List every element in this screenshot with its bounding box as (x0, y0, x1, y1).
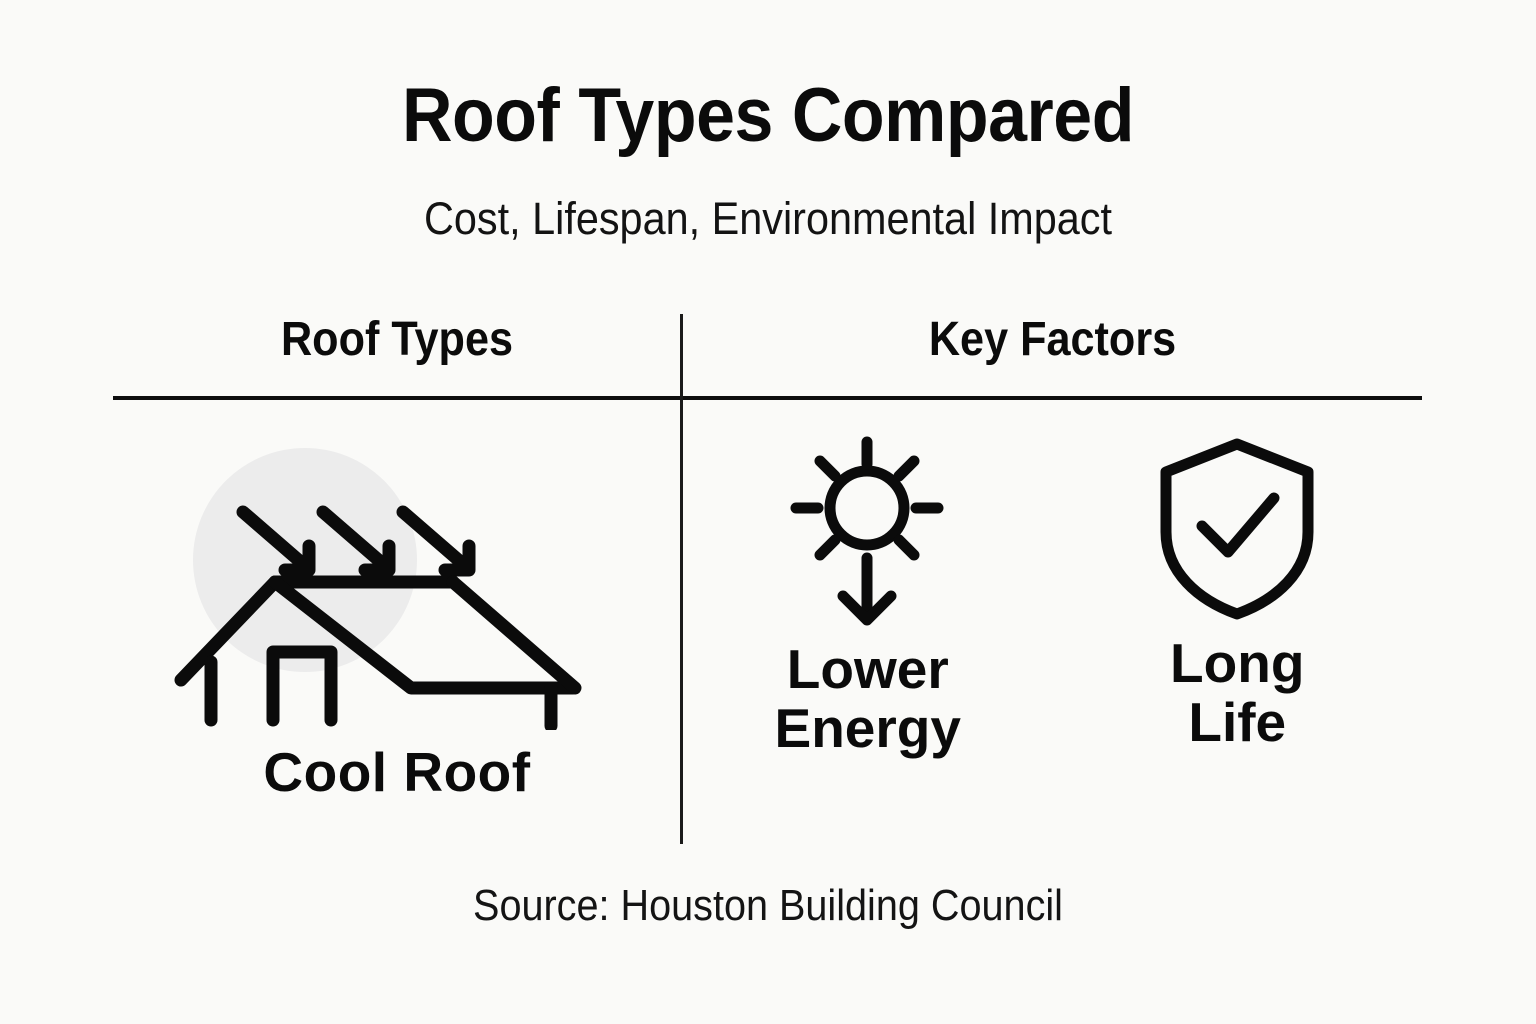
factor-label-long-life: Long Life (1170, 634, 1304, 753)
roof-type-card: Cool Roof (113, 420, 681, 840)
roof-type-label: Cool Roof (113, 745, 681, 800)
column-header-roof-types: Roof Types (141, 316, 652, 364)
shield-check-icon (1150, 432, 1325, 624)
factor-lower-energy: Lower Energy (708, 420, 1028, 759)
header-divider-horizontal (113, 396, 1422, 400)
source-attribution: Source: Houston Building Council (77, 884, 1459, 928)
column-header-key-factors: Key Factors (720, 316, 1385, 364)
factor-long-life: Long Life (1077, 420, 1397, 753)
page-title: Roof Types Compared (61, 78, 1474, 154)
page-subtitle: Cost, Lifespan, Environmental Impact (61, 196, 1474, 241)
key-factors-list: Lower Energy Long Life (683, 420, 1422, 840)
cool-roof-house-icon (163, 430, 633, 730)
factor-label-lower-energy: Lower Energy (775, 640, 961, 759)
sun-with-down-arrow-icon (780, 420, 955, 630)
infographic-canvas: Roof Types Compared Cost, Lifespan, Envi… (0, 0, 1536, 1024)
